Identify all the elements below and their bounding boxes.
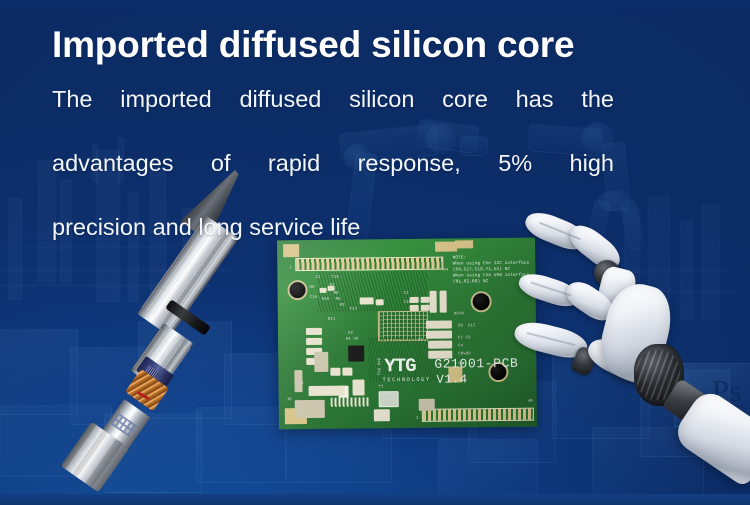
pcb-silk-c2: C2 — [404, 292, 409, 297]
pcb-silk-j6: J6 — [287, 398, 292, 403]
pcb-smd — [342, 368, 352, 376]
product-banner: Ps — [0, 0, 750, 505]
pcb-silk-r8b: R8 — [299, 382, 304, 387]
pcb-silk-c10: C10 — [404, 301, 412, 306]
pcb-smd — [309, 386, 345, 396]
pcb-smd — [320, 288, 327, 293]
pcb-silk-rstn: RSTN — [454, 312, 464, 317]
pcb-silk-pin1-top: 1 — [289, 266, 292, 271]
pcb-silk-pin64: 64 — [443, 269, 448, 274]
banner-title: Imported diffused silicon core — [52, 24, 574, 66]
pcb-smd — [421, 297, 430, 303]
banner-body-line-1: The imported diffused silicon core has t… — [52, 83, 614, 147]
pcb-corner-pad-tr — [435, 241, 457, 251]
pcb-silk-u2: U2 — [348, 332, 353, 337]
pcb-smd — [331, 397, 369, 406]
pcb-part-number: G21001-PCB — [434, 356, 518, 372]
pcb-silk-txd: TXD RXD — [378, 358, 383, 376]
pcb-version: V1.4 — [436, 372, 467, 386]
pcb-brand-logo: YTG — [384, 355, 415, 377]
banner-body-line-3: precision and long service life — [52, 211, 614, 243]
pcb-silk-z1: Z1 — [315, 276, 320, 281]
pcb-silk-r1: R1 U5 — [346, 338, 359, 343]
pcb-silk-c4: C4 — [458, 344, 463, 349]
pcb-silk-y1: Y1 — [379, 385, 384, 390]
pcb-silk-c13: C13 — [350, 308, 358, 313]
pcb-silk-u1: U1 — [418, 339, 423, 344]
pcb-silk-c8: C8 C12 — [458, 324, 476, 329]
pcb-smd — [295, 400, 325, 418]
pcb-smd — [306, 328, 322, 335]
pcb-crystal — [379, 391, 399, 407]
pcb-silk-r3: R3 — [340, 304, 345, 309]
pcb-smd — [352, 379, 364, 395]
pcb-mount-hole-right — [473, 293, 490, 310]
top-edge-band — [0, 0, 750, 9]
pcb-smd — [314, 352, 328, 372]
pcb-silk-c7: C7 C5 — [458, 336, 471, 341]
pcb-silk-r6: R6 — [334, 292, 339, 297]
pcb-smd — [430, 291, 437, 313]
pcb-corner-pad-tl — [283, 244, 299, 257]
pcb-smd — [330, 368, 340, 376]
pcb-brand-subtitle: TECHNOLOGY — [382, 377, 430, 384]
pcb-silk-r7: R7 — [329, 284, 334, 289]
pcb-smd — [421, 305, 430, 311]
banner-body-text: The imported diffused silicon core has t… — [52, 83, 614, 243]
robot-hand — [512, 214, 750, 505]
pcb-smd — [440, 291, 447, 313]
pcb-smd — [374, 409, 390, 421]
pcb-mount-hole-left — [289, 282, 305, 298]
pcb-smd — [306, 338, 322, 345]
pcb-edge-connector-top — [295, 257, 443, 272]
pcb-smd — [428, 341, 452, 349]
pcb-silk-r11: R11 — [328, 318, 336, 323]
pcb-silk-c16: C16 — [331, 276, 339, 281]
pcb-smd — [360, 297, 374, 304]
pcb-smd — [376, 299, 384, 305]
pcb-silk-r10: R10 — [322, 298, 330, 303]
pcb-silk-r9: R9 — [309, 286, 314, 291]
pcb-silk-r5: R5 — [336, 298, 341, 303]
pcb-smd — [426, 321, 452, 329]
pcb-smd — [426, 331, 452, 339]
banner-body-line-2: advantages of rapid response, 5% high — [52, 147, 614, 211]
pcb-silk-c15: C15 — [310, 296, 318, 301]
pcb-silk-pin1-bottom: 1 — [416, 417, 419, 422]
pcb-smd — [419, 399, 435, 411]
bottom-edge-band — [0, 494, 750, 505]
pcb-board: Z1 C16 R9 R7 R6 R10 R5 R3 C15 C13 R11 U2… — [277, 238, 537, 430]
pcb-smd — [348, 345, 364, 361]
